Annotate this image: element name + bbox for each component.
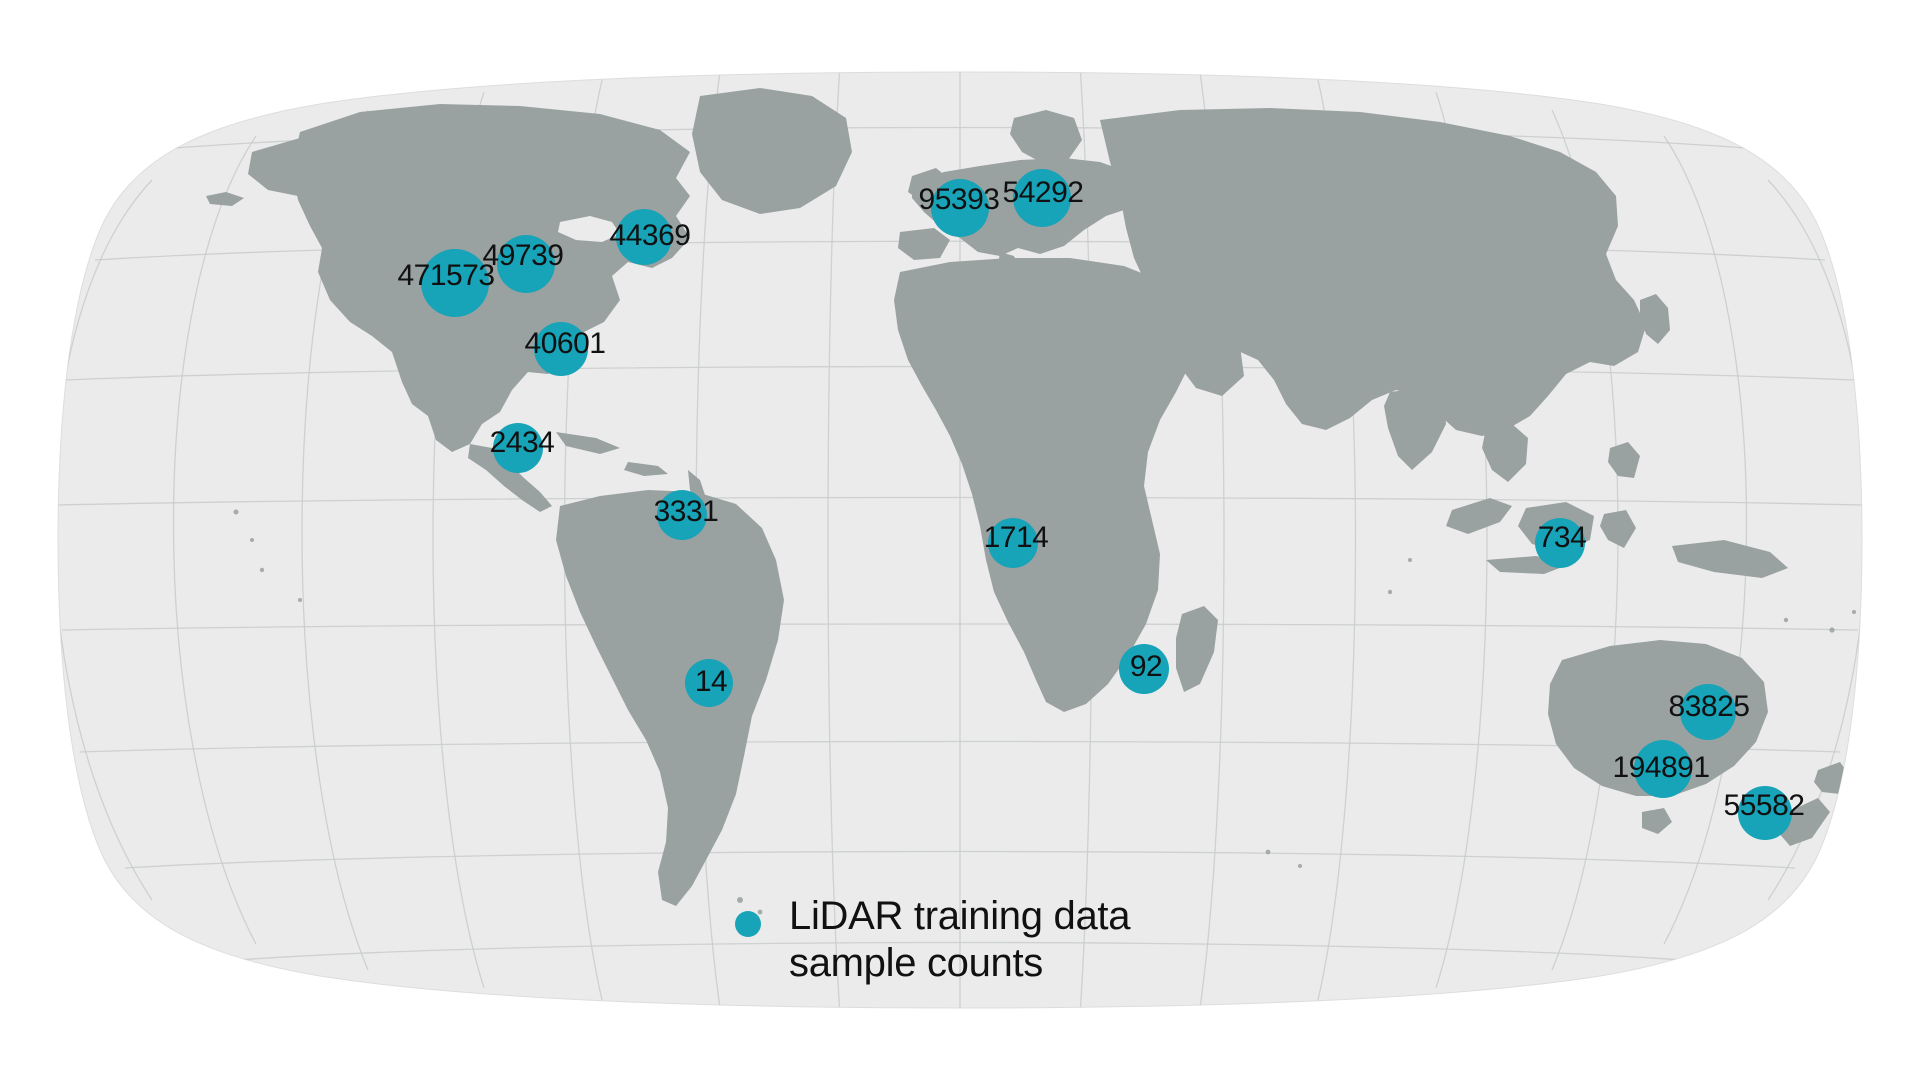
- data-bubble[interactable]: [497, 235, 555, 293]
- legend-line-1: LiDAR training data: [789, 893, 1130, 940]
- data-bubble[interactable]: [534, 322, 588, 376]
- data-bubble[interactable]: [931, 179, 989, 237]
- map-visualization-root: 4715734973944369406012434333114953935429…: [0, 0, 1920, 1080]
- data-bubble[interactable]: [1634, 740, 1692, 798]
- data-bubble[interactable]: [988, 518, 1038, 568]
- legend[interactable]: LiDAR training data sample counts: [735, 893, 1130, 987]
- data-bubble[interactable]: [1535, 518, 1585, 568]
- data-bubble[interactable]: [1738, 786, 1792, 840]
- data-bubble[interactable]: [616, 209, 672, 265]
- legend-line-2: sample counts: [789, 940, 1130, 987]
- data-bubble[interactable]: [685, 659, 733, 707]
- data-bubble[interactable]: [1680, 684, 1736, 740]
- legend-label: LiDAR training data sample counts: [789, 893, 1130, 987]
- circle-marker-icon: [735, 911, 761, 937]
- data-bubble[interactable]: [657, 490, 707, 540]
- data-bubble[interactable]: [421, 249, 489, 317]
- data-bubble[interactable]: [1013, 169, 1071, 227]
- data-bubble[interactable]: [493, 423, 543, 473]
- data-bubble[interactable]: [1119, 644, 1169, 694]
